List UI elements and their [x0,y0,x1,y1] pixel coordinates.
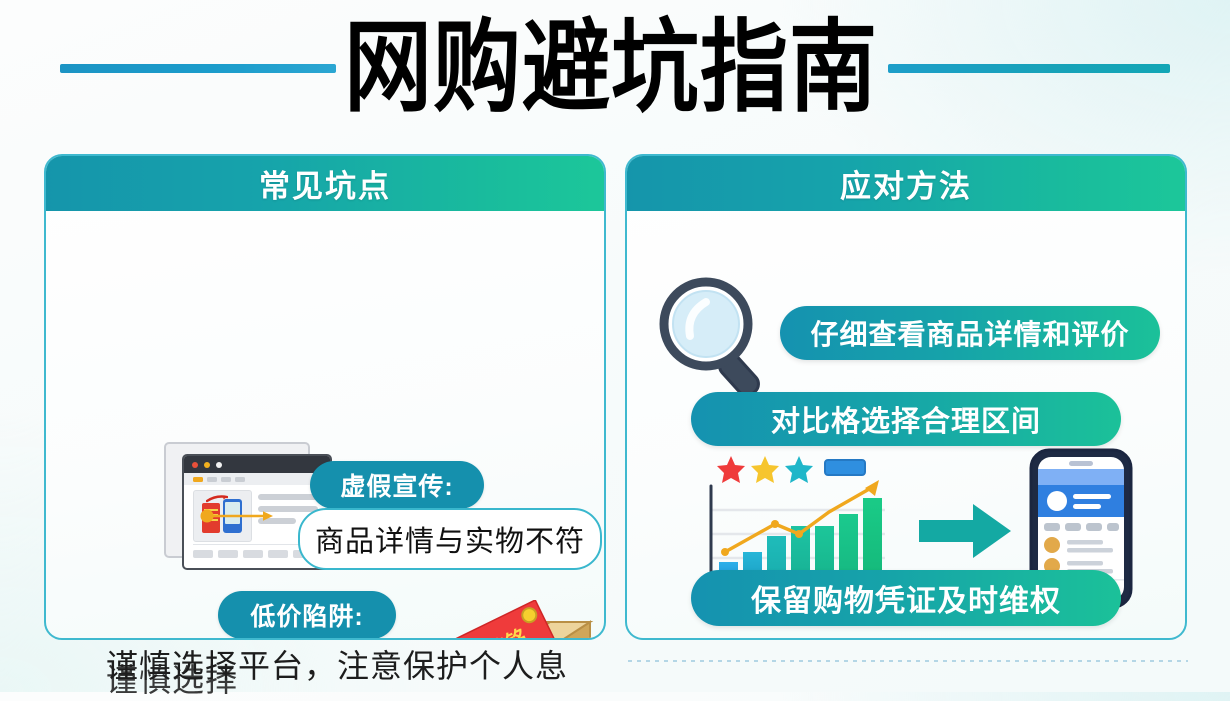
window-close-dot-icon [192,462,198,468]
panel-right-header-title: 应对方法 [840,161,972,206]
panel-left-body: 虚假宣传: 商品详情与实物不符 低价陷阱: 价格远低于市场价 价格铭 售后问题：… [46,212,604,640]
toolbar-chip-1 [193,477,203,482]
phone-avatar [1047,491,1067,511]
window-maximize-dot-icon [216,462,222,468]
badge-low-price-trap: 低价陷阱: [218,591,396,639]
toolbar-chip-2 [207,477,217,482]
window-minimize-dot-icon [204,462,210,468]
star-yellow-icon [751,456,779,483]
browser-titlebar [184,456,330,473]
content-line-1 [258,494,318,500]
browser-toolbar [184,473,330,485]
footer-chip-2 [218,550,238,558]
pill-inspect-details: 仔细查看商品详情和评价 [780,306,1160,360]
footer-chip-3 [243,550,263,558]
phone-speaker [1069,461,1093,466]
title-rule-right [888,64,1170,73]
bottom-note: 谨慎选择平台，注意保护个人息 [106,641,568,687]
star-teal-icon [785,456,813,483]
panel-countermeasures: 应对方法 仔细查看商品详情和评价 对比格选择合理区间 [625,154,1187,640]
parcel-box-with-price-tag-illustration: 价格铭 [438,600,606,640]
pill-compare-price: 对比格选择合理区间 [691,392,1121,446]
right-arrow-icon [917,500,1013,562]
legend-bar-blue [825,460,865,475]
panel-left-header-title: 常见坑点 [259,161,391,206]
footer-chip-4 [268,550,288,558]
toolbar-chip-3 [221,477,231,482]
chart-legend [717,456,865,483]
title-row: 网购避坑指南 [0,8,1230,128]
panel-left-header: 常见坑点 [45,155,605,211]
panel-common-pitfalls: 常见坑点 [44,154,606,640]
footer-chip-1 [193,550,213,558]
orange-pointer-arrow-icon [200,508,274,524]
page-title: 网购避坑指南 [344,18,878,118]
title-rule-left [60,64,336,73]
pitfall-low-price-text: 价格远低于市场价 [114,638,416,640]
panel-right-header: 应对方法 [626,155,1186,211]
magnifier-icon [654,274,784,402]
badge-false-advertising: 虚假宣传: [310,461,484,509]
pitfall-false-advertising-text: 商品详情与实物不符 [298,508,602,570]
bottom-dotted-divider [628,660,1188,662]
pill-keep-receipts: 保留购物凭证及时维权 [691,570,1121,626]
toolbar-chip-4 [235,477,245,482]
panel-right-body: 仔细查看商品详情和评价 对比格选择合理区间 [627,212,1185,640]
star-red-icon [717,456,745,483]
price-tag-icon: 价格铭 [445,600,555,640]
